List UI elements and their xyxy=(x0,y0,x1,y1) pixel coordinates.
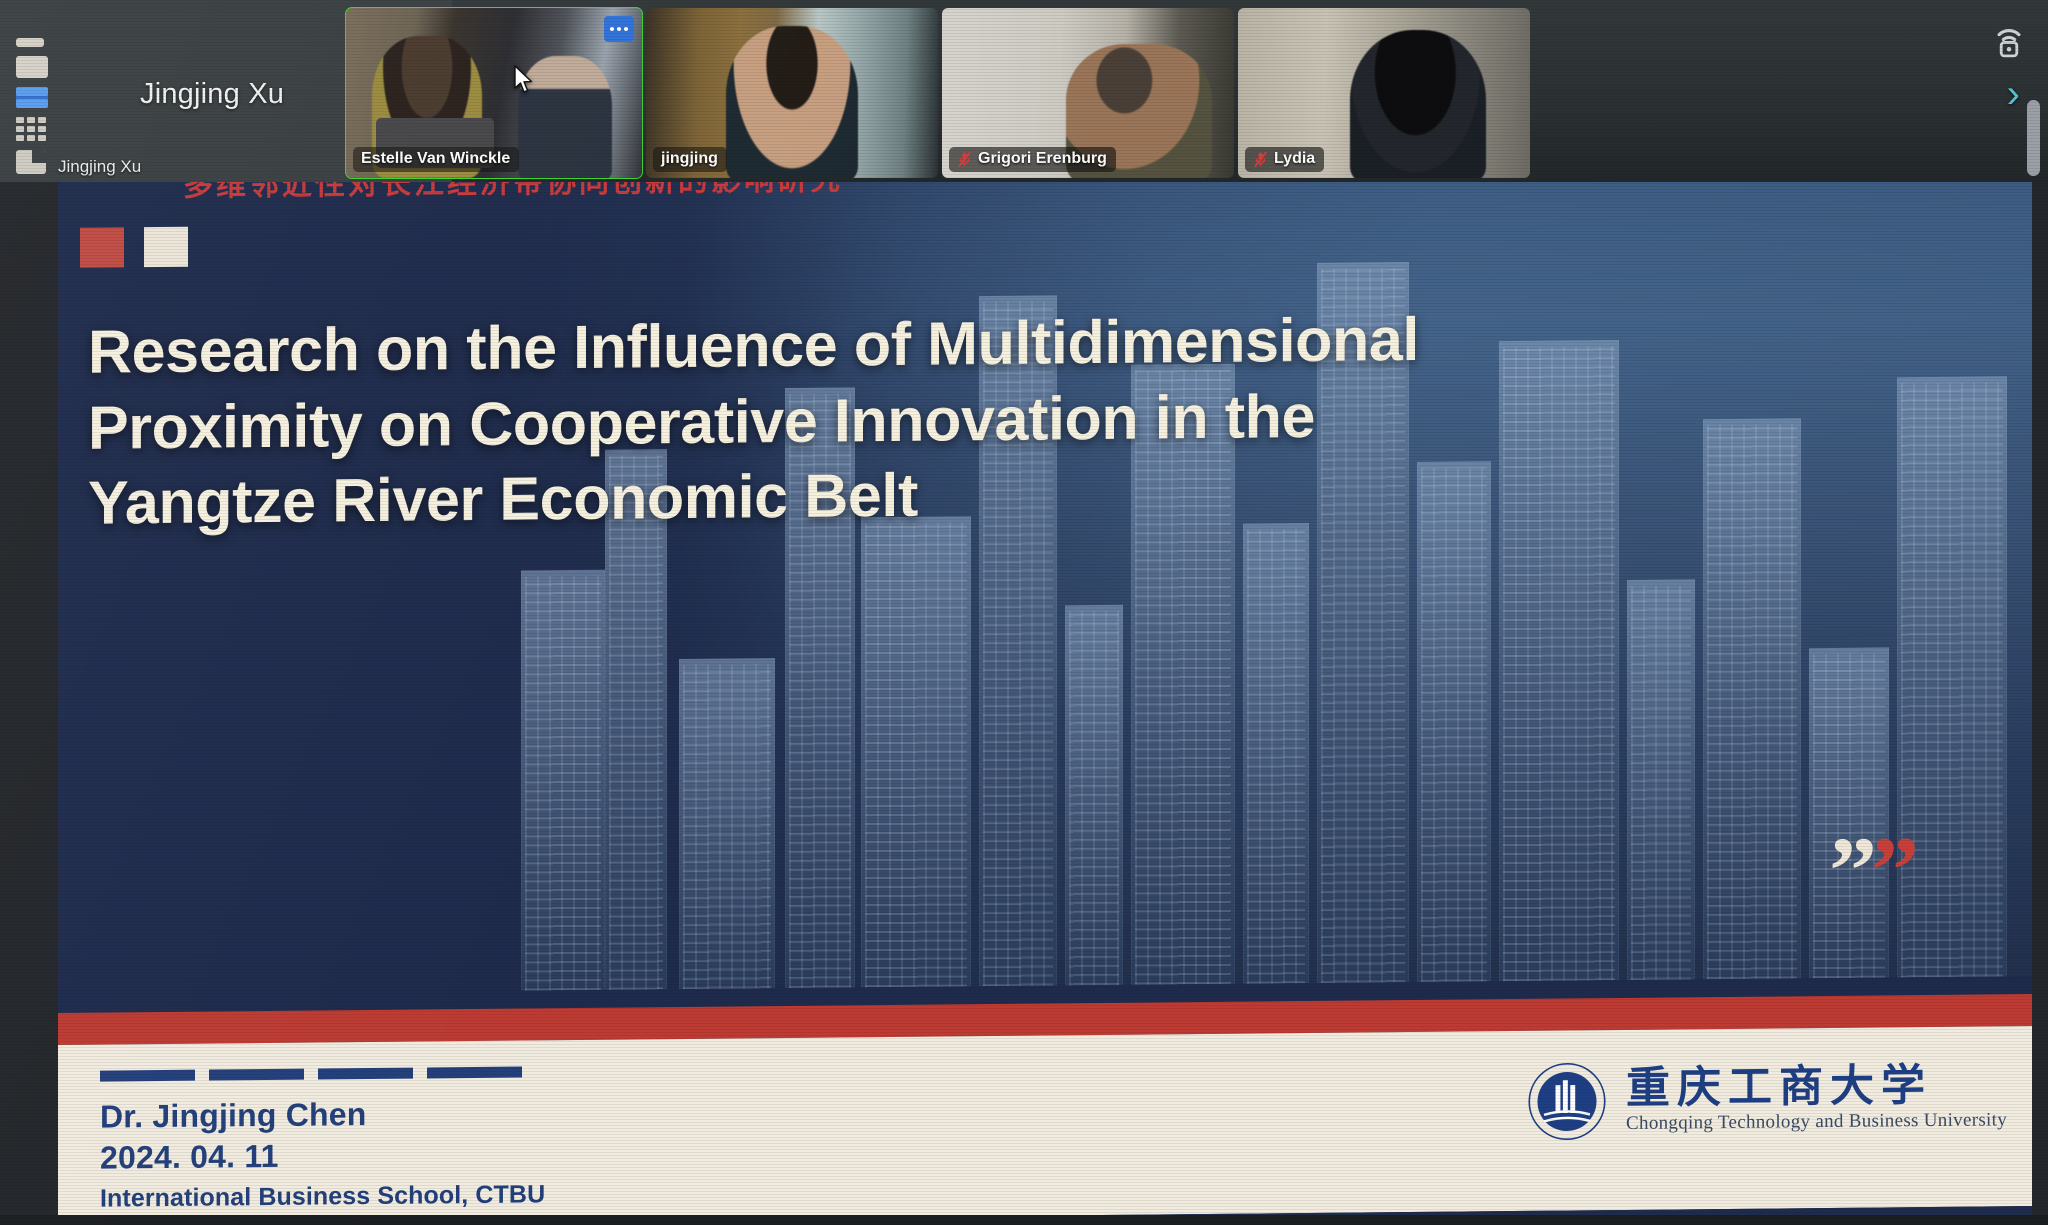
participant-tile[interactable]: Estelle Van Winckle xyxy=(346,8,642,178)
next-page-arrow-icon[interactable]: › xyxy=(2007,74,2020,114)
footer-organization: International Business School, CTBU xyxy=(100,1180,545,1213)
quote-glyph-light: ” xyxy=(1829,817,1871,924)
filmstrip-scrollbar[interactable] xyxy=(2027,100,2040,176)
view-layout-icon-group[interactable] xyxy=(16,38,48,174)
university-name-cn: 重庆工商大学 xyxy=(1626,1064,1932,1111)
grid-view-icon[interactable] xyxy=(16,117,46,141)
participant-name: jingjing xyxy=(661,150,718,168)
speaker-view-icon[interactable] xyxy=(16,56,48,78)
participant-name: Grigori Erenburg xyxy=(978,150,1107,168)
slide-title: Research on the Influence of Multidimens… xyxy=(88,301,1488,541)
participant-tile[interactable]: Lydia xyxy=(1238,8,1530,178)
mic-muted-icon xyxy=(957,151,972,168)
mouse-cursor xyxy=(513,65,535,95)
monitor-bezel-left xyxy=(0,0,58,1225)
monitor-bezel-right xyxy=(2032,182,2048,1225)
minimize-view-icon[interactable] xyxy=(16,38,44,47)
quote-mark-decoration: ”” xyxy=(1829,844,1913,898)
university-name-en: Chongqing Technology and Business Univer… xyxy=(1626,1109,2007,1135)
active-speaker-name: Jingjing Xu xyxy=(140,78,284,111)
red-square-decoration xyxy=(80,227,124,267)
tile-name-label: Grigori Erenburg xyxy=(949,147,1116,172)
mic-muted-icon xyxy=(1253,151,1268,168)
photographed-screen: 多维邻近性对长江经济带协同创新的影响研究 Research on the Inf… xyxy=(0,0,2048,1225)
quote-glyph-red: ” xyxy=(1871,816,1913,923)
decorative-squares xyxy=(80,227,188,268)
footer-date: 2024. 04. 11 xyxy=(100,1135,367,1179)
gallery-view-icon[interactable] xyxy=(16,87,48,108)
tile-more-options-icon[interactable] xyxy=(604,16,634,42)
footer-author-block: Dr. Jingjing Chen 2024. 04. 11 xyxy=(100,1094,367,1178)
university-logo: 重庆工商大学 Chongqing Technology and Business… xyxy=(1526,1056,2007,1143)
monitor-bezel-bottom xyxy=(0,1215,2048,1225)
participant-tile[interactable]: jingjing xyxy=(646,8,938,178)
footer-dash-decoration xyxy=(100,1067,522,1082)
tile-name-label: Lydia xyxy=(1245,147,1324,172)
university-emblem-icon xyxy=(1526,1060,1608,1143)
footer-author-name: Dr. Jingjing Chen xyxy=(100,1094,367,1138)
tile-name-label: Estelle Van Winckle xyxy=(353,147,519,172)
sidebar-view-icon[interactable] xyxy=(16,150,46,174)
zoom-video-filmstrip: Jingjing Xu Jingjing Xu Estelle Van Winc… xyxy=(0,0,2048,182)
self-video-label: Jingjing Xu xyxy=(58,157,141,177)
participant-name: Lydia xyxy=(1274,150,1315,168)
participant-name: Estelle Van Winckle xyxy=(361,150,510,168)
shared-presentation-slide: 多维邻近性对长江经济带协同创新的影响研究 Research on the Inf… xyxy=(0,0,2048,1225)
cream-square-decoration xyxy=(144,227,188,267)
participant-tile[interactable]: Grigori Erenburg xyxy=(942,8,1234,178)
tile-name-label: jingjing xyxy=(653,147,727,172)
wireless-cast-icon[interactable] xyxy=(1992,22,2026,60)
slide-footer: Dr. Jingjing Chen 2024. 04. 11 Internati… xyxy=(58,1026,2048,1225)
slide-background-cityscape xyxy=(493,131,2048,991)
